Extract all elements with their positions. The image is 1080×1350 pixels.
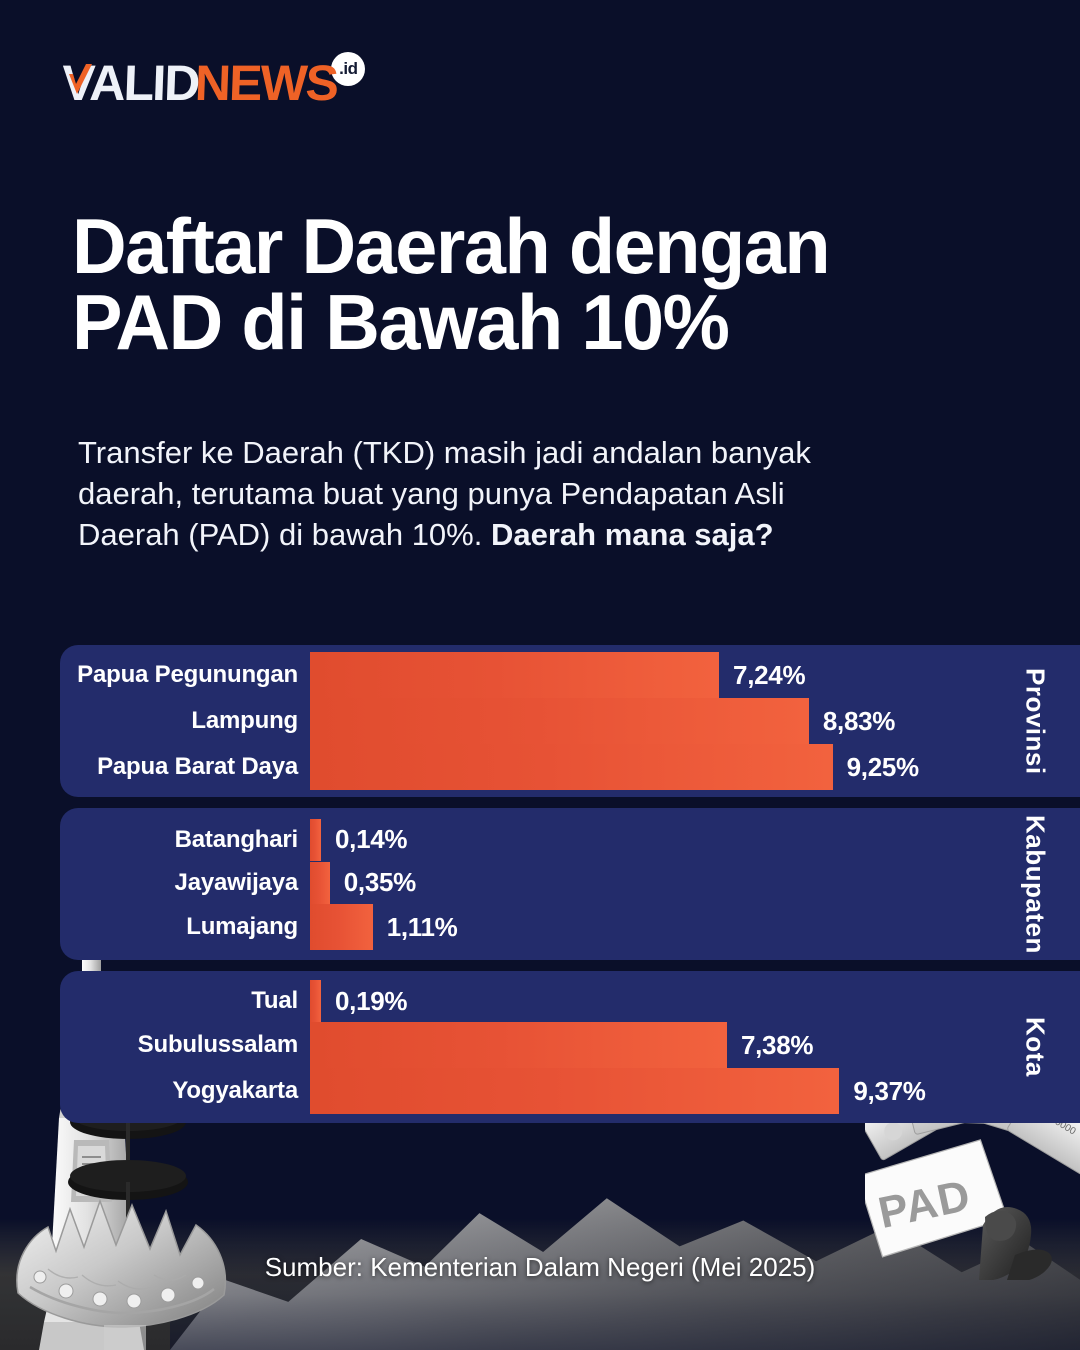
- bar: [310, 1022, 727, 1068]
- logo-valid-text: VALID: [61, 58, 199, 108]
- bar: [310, 819, 321, 861]
- bar-row[interactable]: Papua Pegunungan7,24%: [60, 652, 990, 698]
- bar: [310, 904, 373, 950]
- bar: [310, 862, 330, 904]
- bar-category-label: Tual: [60, 987, 310, 1015]
- bar-row[interactable]: Subulussalam7,38%: [60, 1022, 990, 1068]
- bar-rows: Papua Pegunungan7,24%Lampung8,83%Papua B…: [60, 645, 990, 797]
- chart-panel-provinsi: Papua Pegunungan7,24%Lampung8,83%Papua B…: [60, 645, 1080, 797]
- infographic-canvas: 100000 100000 50000 50000 50000: [0, 0, 1080, 1350]
- logo-news-text: NEWS: [194, 58, 338, 108]
- bar-track: 0,19%: [310, 980, 990, 1022]
- bar-value-label: 7,24%: [733, 660, 805, 691]
- bar-track: 1,11%: [310, 904, 990, 950]
- bar-category-label: Yogyakarta: [60, 1077, 310, 1105]
- group-label-kabupaten: Kabupaten: [990, 808, 1080, 960]
- source-caption: Sumber: Kementerian Dalam Negeri (Mei 20…: [0, 1252, 1080, 1283]
- svg-text:PAD: PAD: [874, 1171, 975, 1238]
- bar-track: 0,35%: [310, 862, 990, 904]
- chart-panel-kota: Tual0,19%Subulussalam7,38%Yogyakarta9,37…: [60, 971, 1080, 1123]
- bar-row[interactable]: Jayawijaya0,35%: [60, 861, 990, 904]
- subtitle-question: Daerah mana saja?: [491, 517, 774, 552]
- bar-row[interactable]: Lampung8,83%: [60, 698, 990, 744]
- bar: [310, 1068, 839, 1114]
- chart-panels: Papua Pegunungan7,24%Lampung8,83%Papua B…: [0, 645, 1080, 1123]
- group-label-text: Kota: [1020, 1017, 1051, 1077]
- bar-row[interactable]: Lumajang1,11%: [60, 904, 990, 950]
- bar-row[interactable]: Tual0,19%: [60, 980, 990, 1022]
- title-line-1: Daftar Daerah dengan: [72, 202, 829, 290]
- bar-category-label: Lumajang: [60, 913, 310, 941]
- group-label-provinsi: Provinsi: [990, 645, 1080, 797]
- bar-track: 7,24%: [310, 652, 990, 698]
- bar-value-label: 0,19%: [335, 986, 407, 1017]
- bar-value-label: 8,83%: [823, 706, 895, 737]
- bar: [310, 698, 809, 744]
- group-label-text: Provinsi: [1020, 668, 1051, 775]
- bar-category-label: Jayawijaya: [60, 869, 310, 897]
- bar-value-label: 7,38%: [741, 1030, 813, 1061]
- title-line-2: PAD di Bawah 10%: [72, 284, 984, 360]
- bar: [310, 744, 833, 790]
- bar-category-label: Batanghari: [60, 826, 310, 854]
- chart-panel-kabupaten: Batanghari0,14%Jayawijaya0,35%Lumajang1,…: [60, 808, 1080, 960]
- bar-row[interactable]: Yogyakarta9,37%: [60, 1068, 990, 1114]
- bar-track: 0,14%: [310, 819, 990, 861]
- group-label-text: Kabupaten: [1020, 815, 1051, 954]
- bar-track: 9,37%: [310, 1068, 990, 1114]
- bar-category-label: Subulussalam: [60, 1031, 310, 1059]
- group-label-kota: Kota: [990, 971, 1080, 1123]
- bar-category-label: Papua Pegunungan: [60, 661, 310, 689]
- bar-rows: Tual0,19%Subulussalam7,38%Yogyakarta9,37…: [60, 971, 990, 1123]
- bar-category-label: Lampung: [60, 707, 310, 735]
- bar-category-label: Papua Barat Daya: [60, 753, 310, 781]
- page-title: Daftar Daerah dengan PAD di Bawah 10%: [72, 208, 984, 361]
- bar-track: 8,83%: [310, 698, 990, 744]
- bar-row[interactable]: Batanghari0,14%: [60, 818, 990, 861]
- bar-value-label: 9,37%: [853, 1076, 925, 1107]
- bar-track: 7,38%: [310, 1022, 990, 1068]
- bar-track: 9,25%: [310, 744, 990, 790]
- bar-value-label: 1,11%: [387, 912, 458, 943]
- bar-value-label: 0,35%: [344, 867, 416, 898]
- bar-row[interactable]: Papua Barat Daya9,25%: [60, 744, 990, 790]
- bar-rows: Batanghari0,14%Jayawijaya0,35%Lumajang1,…: [60, 808, 990, 960]
- mountains-photo: [0, 1130, 1080, 1350]
- bar-value-label: 0,14%: [335, 824, 407, 855]
- logo-wordmark: VALIDNEWS: [62, 58, 337, 108]
- bar-value-label: 9,25%: [847, 752, 919, 783]
- bar: [310, 980, 321, 1022]
- subtitle: Transfer ke Daerah (TKD) masih jadi anda…: [78, 432, 858, 556]
- bar: [310, 652, 719, 698]
- brand-logo[interactable]: VALIDNEWS .id: [62, 58, 365, 108]
